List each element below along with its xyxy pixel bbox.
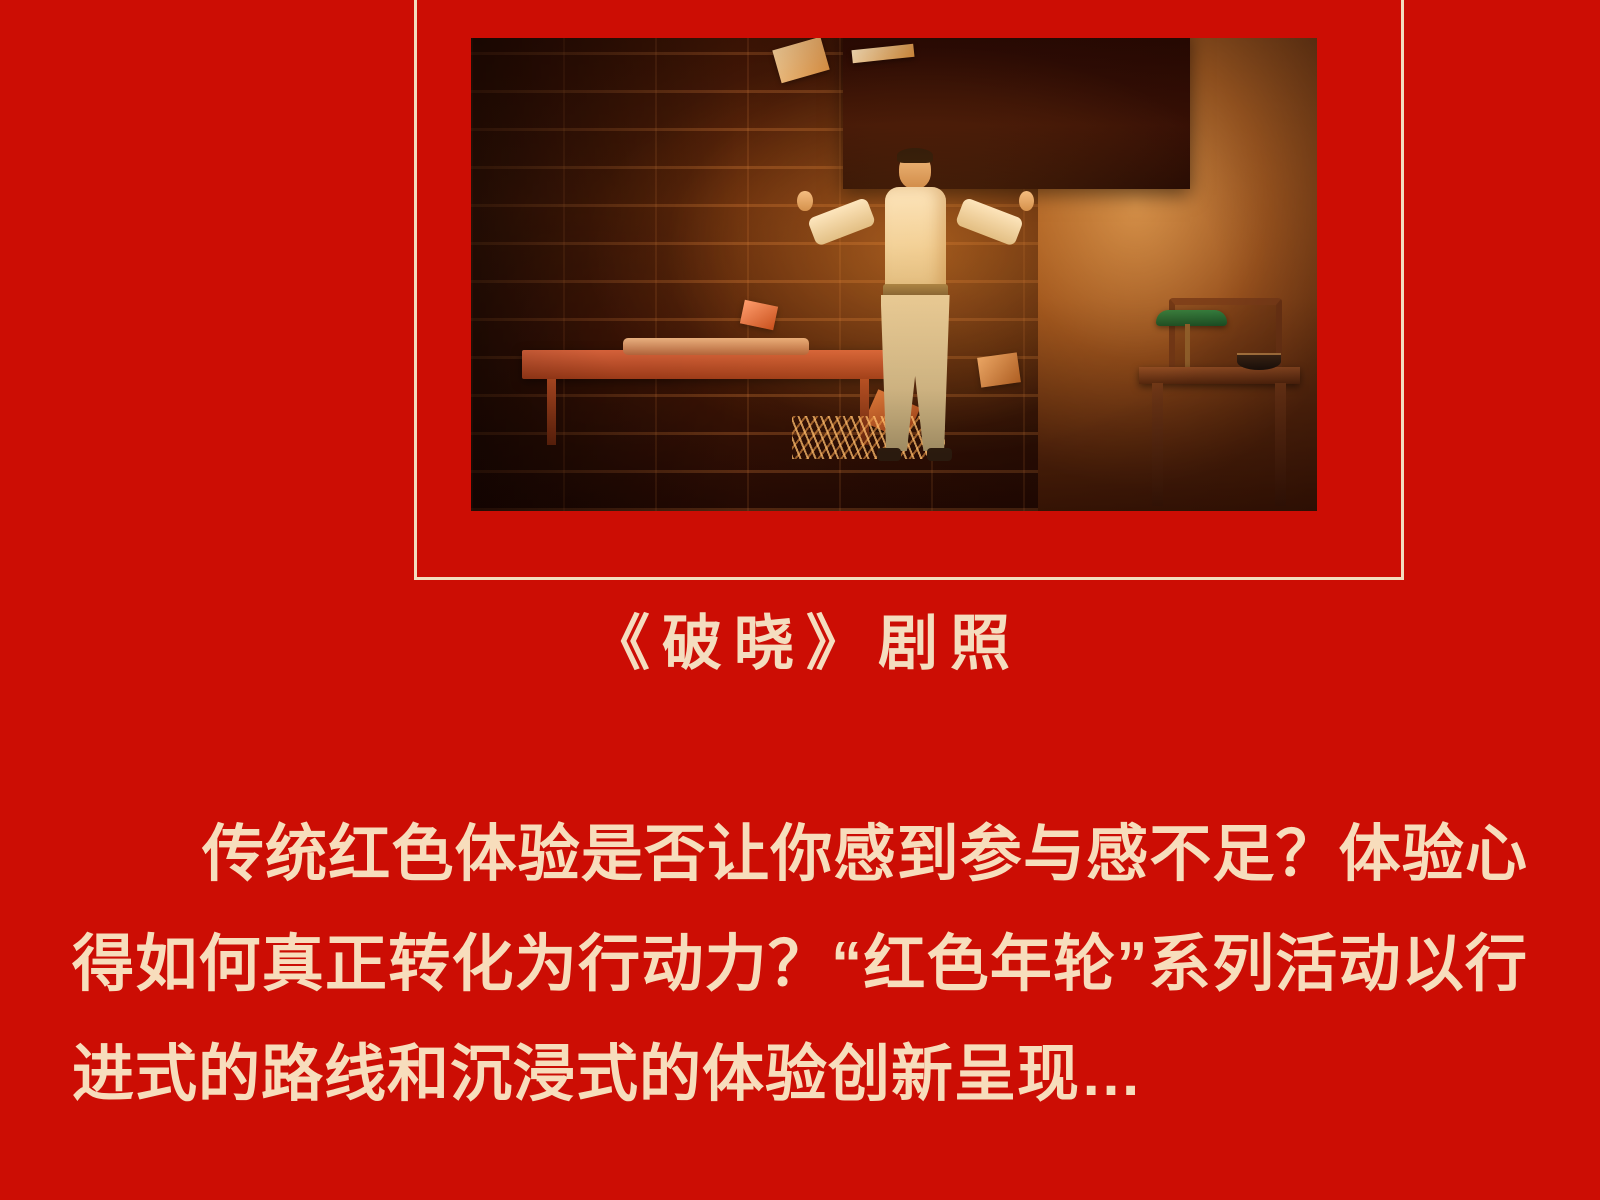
actor-shoe <box>927 448 951 462</box>
actor-shirt <box>885 187 946 293</box>
actor-shoe <box>877 448 901 462</box>
banker-lamp-icon <box>1156 310 1227 326</box>
actor-trousers <box>881 295 950 452</box>
photo-caption: 《破晓》剧照 <box>0 614 1600 674</box>
flying-paper <box>977 352 1021 387</box>
wooden-table <box>1139 367 1300 384</box>
bowl <box>1237 353 1281 370</box>
actor-hair <box>897 148 934 163</box>
actor-figure <box>864 152 966 493</box>
article-paragraph: 传统红色体验是否让你感到参与感不足？体验心得如何真正转化为行动力？“红色年轮”系… <box>72 800 1528 1130</box>
lamp-stem <box>1185 324 1190 369</box>
stage-photo <box>471 38 1317 511</box>
bedding <box>623 338 809 355</box>
table-leg <box>1275 383 1286 506</box>
actor-left-hand <box>797 191 812 211</box>
bed-leg <box>547 379 556 445</box>
article-body: 传统红色体验是否让你感到参与感不足？体验心得如何真正转化为行动力？“红色年轮”系… <box>72 800 1528 1130</box>
actor-right-hand <box>1019 191 1034 211</box>
table-leg <box>1152 383 1163 506</box>
